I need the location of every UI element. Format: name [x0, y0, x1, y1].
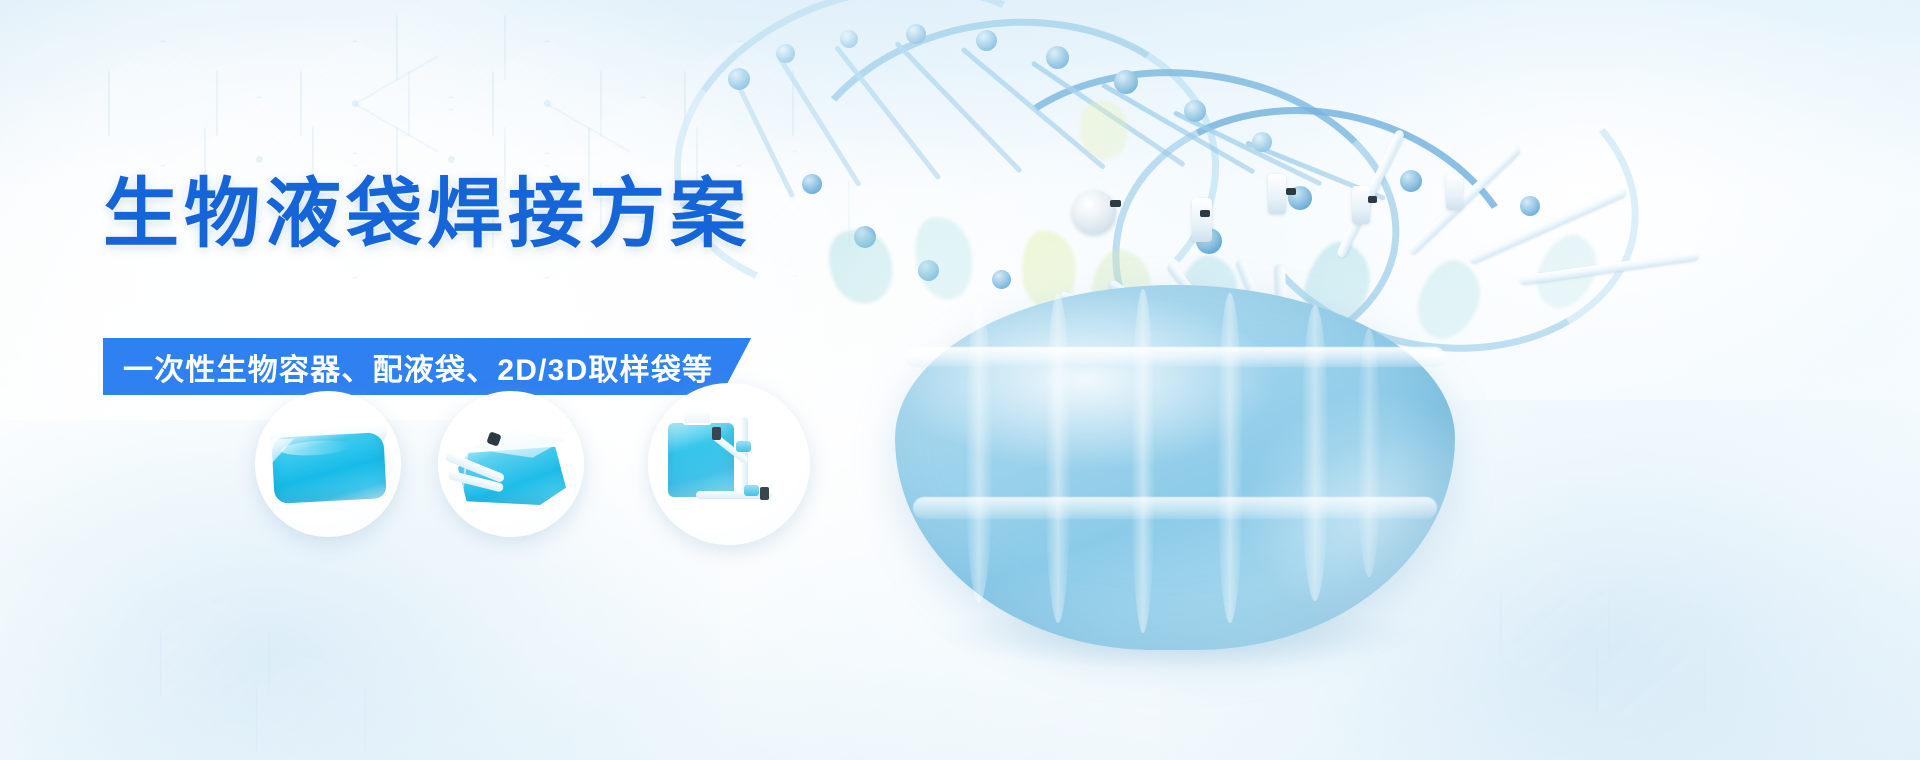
bioreactor-bag-icon	[895, 285, 1455, 650]
product-thumbnail-2[interactable]	[438, 391, 584, 537]
product-thumbnail-1[interactable]	[255, 391, 401, 537]
product-thumbnail-3[interactable]	[648, 383, 810, 545]
page-title: 生物液袋焊接方案	[103, 177, 751, 253]
subtitle-bar: 一次性生物容器、配液袋、2D/3D取样袋等	[103, 338, 751, 395]
hero-banner: 生物液袋焊接方案 一次性生物容器、配液袋、2D/3D取样袋等	[0, 0, 1920, 760]
subtitle-text: 一次性生物容器、配液袋、2D/3D取样袋等	[123, 345, 713, 389]
